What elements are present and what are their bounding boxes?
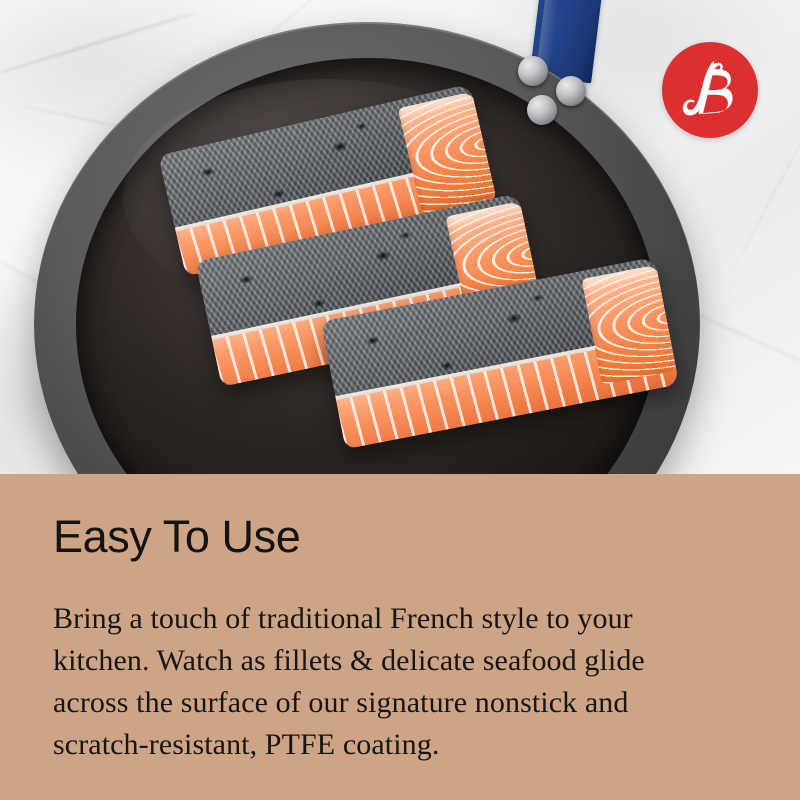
logo-circle <box>662 42 758 138</box>
pan-rivet <box>556 76 586 106</box>
marble-vein <box>0 11 196 75</box>
description-paragraph: Bring a touch of traditional French styl… <box>53 598 715 766</box>
brand-logo[interactable] <box>662 42 758 138</box>
product-photo <box>0 0 800 474</box>
product-feature-card: Easy To Use Bring a touch of traditional… <box>0 0 800 800</box>
marble-vein <box>732 130 800 272</box>
page-title: Easy To Use <box>53 513 300 561</box>
pan-rivet <box>527 95 557 125</box>
pan-rivet <box>518 56 548 86</box>
